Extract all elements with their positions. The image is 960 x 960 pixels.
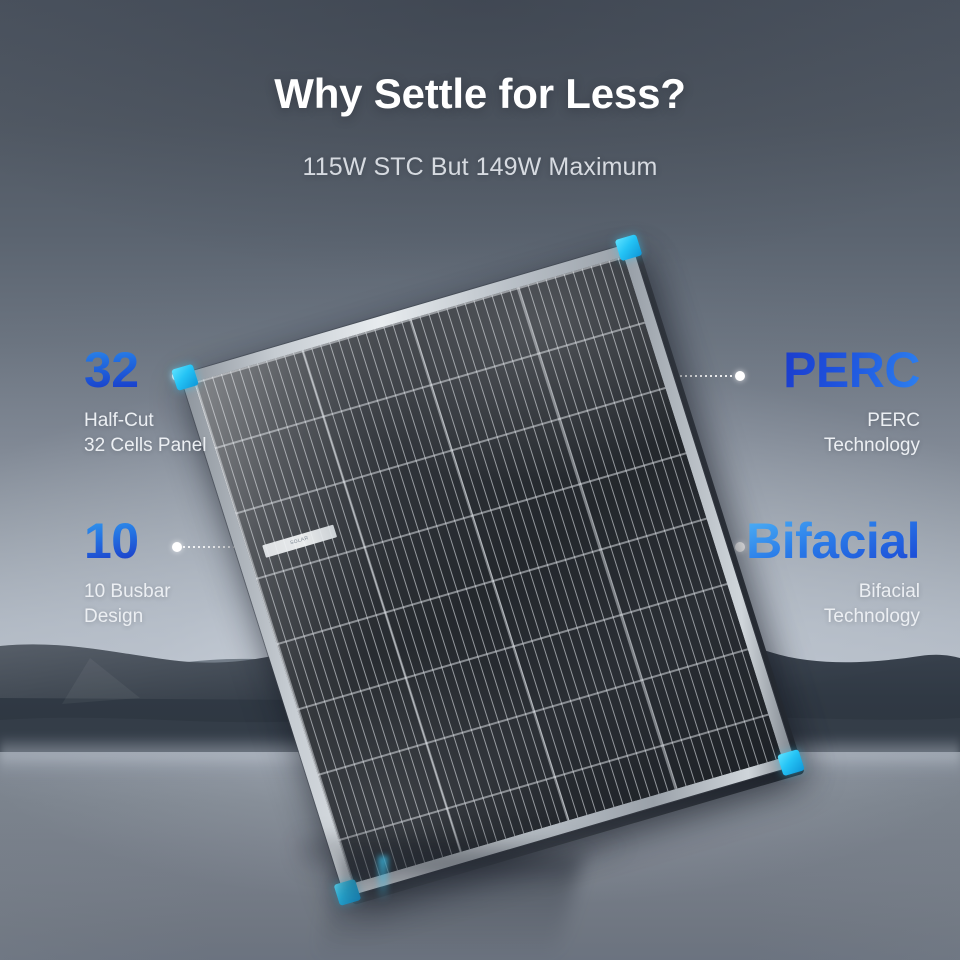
feature-perc: PERC PERC Technology — [783, 345, 920, 458]
feature-desc-perc: PERC Technology — [783, 408, 920, 458]
feature-value-half-cut: 32 — [84, 345, 139, 395]
feature-half-cut: 32 Half-Cut 32 Cells Panel — [84, 345, 207, 458]
feature-desc-half-cut: Half-Cut 32 Cells Panel — [84, 408, 207, 458]
page-title: Why Settle for Less? — [0, 70, 960, 118]
feature-desc-busbar: 10 Busbar Design — [84, 579, 171, 629]
infographic-canvas: Why Settle for Less? 115W STC But 149W M… — [0, 0, 960, 960]
page-subtitle: 115W STC But 149W Maximum — [0, 153, 960, 182]
leader-dot — [172, 542, 182, 552]
feature-value-bifacial: Bifacial — [746, 516, 920, 566]
feature-desc-bifacial: Bifacial Technology — [746, 579, 920, 629]
feature-value-busbar: 10 — [84, 516, 139, 566]
feature-busbar: 10 10 Busbar Design — [84, 516, 171, 629]
feature-bifacial: Bifacial Bifacial Technology — [746, 516, 920, 629]
leader-dot — [735, 371, 745, 381]
feature-value-perc: PERC — [783, 345, 920, 395]
